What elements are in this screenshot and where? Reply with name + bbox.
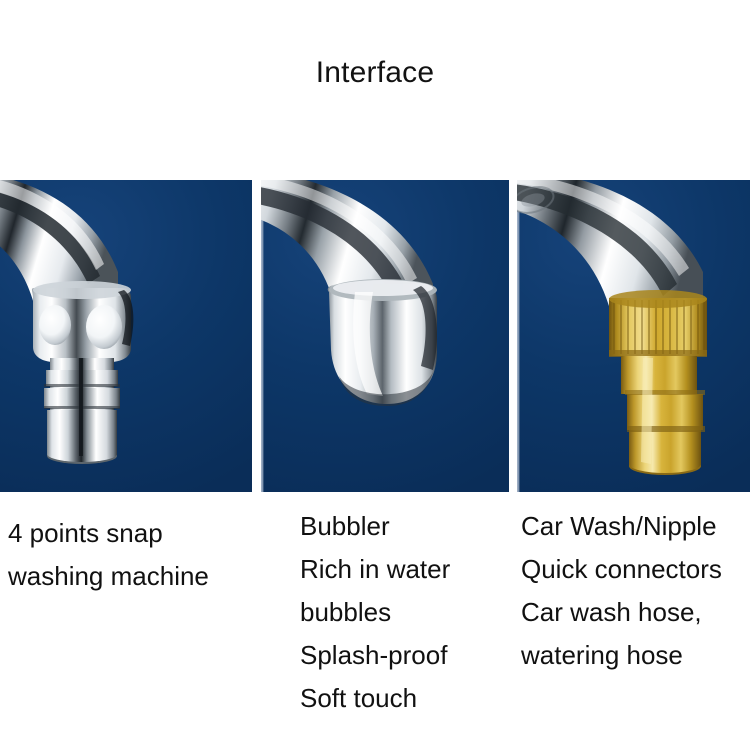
caption-line: 4 points snap [8,512,209,555]
faucet-brass-connector-image [517,180,750,492]
caption-line: Car Wash/Nipple [521,505,722,548]
caption-car-wash-nipple: Car Wash/Nipple Quick connectors Car was… [521,505,722,677]
product-panel-car-wash-nipple [517,180,750,492]
caption-line: watering hose [521,634,722,677]
caption-four-point-snap: 4 points snap washing machine [8,512,209,598]
faucet-bubbler-image [261,180,509,492]
caption-line: Quick connectors [521,548,722,591]
caption-line: Splash-proof [300,634,450,677]
caption-line: washing machine [8,555,209,598]
caption-line: Bubbler [300,505,450,548]
caption-bubbler: Bubbler Rich in water bubbles Splash-pro… [300,505,450,720]
caption-line: Car wash hose, [521,591,722,634]
product-panel-bubbler [261,180,509,492]
product-panel-row [0,180,750,492]
page-title: Interface [0,58,750,88]
product-panel-four-point-snap [0,180,252,492]
caption-line: Rich in water [300,548,450,591]
caption-line: bubbles [300,591,450,634]
faucet-snap-connector-image [0,180,252,492]
caption-line: Soft touch [300,677,450,720]
